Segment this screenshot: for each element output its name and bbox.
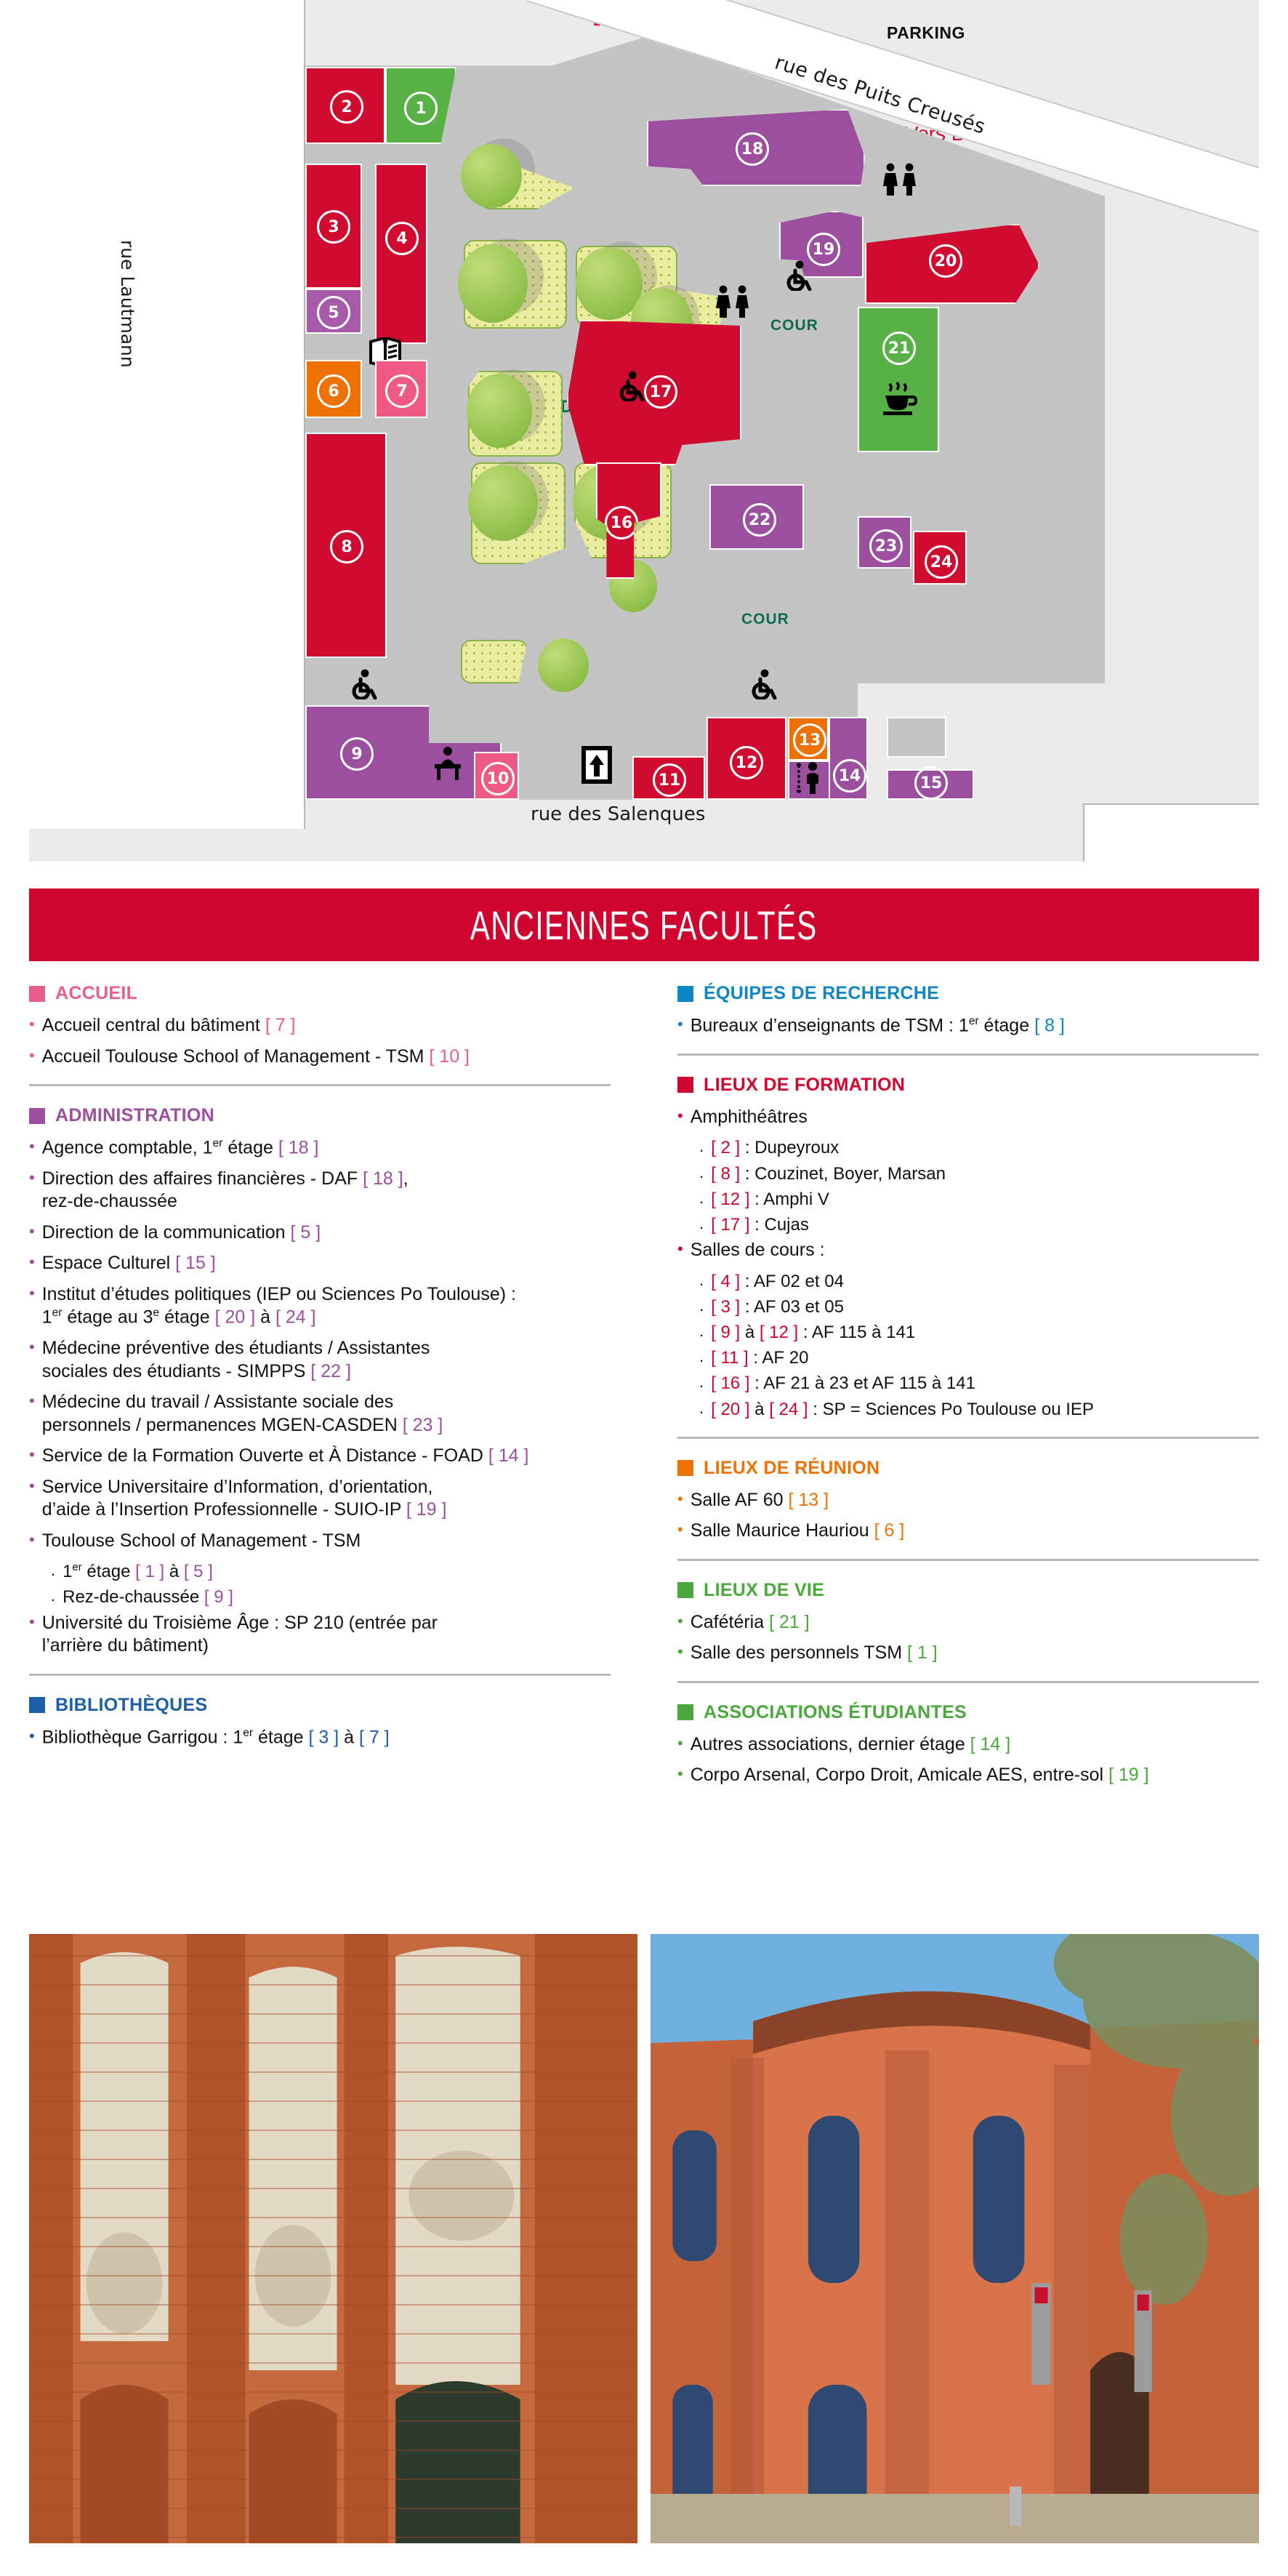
legend-subitem-text: [ 11 ] : AF 20 [711, 1347, 808, 1369]
tree-icon [467, 374, 532, 448]
map-marker-18[interactable]: 18 [736, 132, 769, 166]
bullet-icon: • [677, 1106, 683, 1127]
bullet-icon: • [29, 1283, 35, 1304]
legend-item-text: Service de la Formation Ouverte et À Dis… [42, 1445, 611, 1468]
legend-item-text: Amphithéâtres [691, 1106, 1259, 1129]
subbullet-icon: . [699, 1136, 704, 1157]
cour-label-1: COUR [770, 317, 818, 334]
map-marker-11[interactable]: 11 [653, 763, 686, 797]
legend-section-equipes-de-recherche: ÉQUIPES DE RECHERCHE•Bureaux d’enseignan… [677, 983, 1259, 1038]
bullet-icon: • [677, 1489, 683, 1510]
legend-subitem[interactable]: .[ 8 ] : Couzinet, Boyer, Marsan [699, 1163, 1259, 1185]
bullet-icon: • [677, 1764, 683, 1785]
building-block-23[interactable]: 23 [858, 516, 911, 569]
map-marker-9[interactable]: 9 [340, 737, 374, 771]
bullet-icon: • [29, 1612, 35, 1633]
legend-item-text: Médecine préventive des étudiants / Assi… [42, 1337, 611, 1383]
legend-subitem[interactable]: .Rez-de-chaussée [ 9 ] [51, 1586, 611, 1608]
section-color-square [677, 1704, 693, 1720]
bullet-icon: • [29, 1168, 35, 1189]
bullet-icon: • [29, 1046, 35, 1067]
section-divider [677, 1559, 1259, 1561]
legend-item[interactable]: •Espace Culturel [ 15 ] [29, 1252, 611, 1275]
section-header-lieux-de-formation: LIEUX DE FORMATION [677, 1075, 1259, 1096]
subbullet-icon: . [699, 1188, 704, 1209]
subbullet-icon: . [51, 1560, 55, 1581]
photo-strip [29, 1934, 1259, 2543]
legend-column-right: ÉQUIPES DE RECHERCHE•Bureaux d’enseignan… [677, 983, 1259, 1795]
bullet-icon: • [29, 1530, 35, 1551]
section-color-square [677, 1582, 693, 1598]
subbullet-icon: . [51, 1586, 55, 1607]
cour-label-2: COUR [741, 611, 789, 628]
building-block-6[interactable]: 6 [305, 360, 362, 418]
map-marker-3[interactable]: 3 [317, 210, 350, 244]
legend-section-lieux-de-vie: LIEUX DE VIE•Cafétéria [ 21 ]•Salle des … [677, 1580, 1259, 1665]
section-divider [29, 1084, 611, 1086]
legend-item[interactable]: •Institut d’études politiques (IEP ou Sc… [29, 1283, 611, 1329]
bullet-icon: • [29, 1337, 35, 1358]
legend-subitem[interactable]: .[ 2 ] : Dupeyroux [699, 1136, 1259, 1159]
section-title: LIEUX DE FORMATION [704, 1075, 905, 1096]
map-marker-5[interactable]: 5 [317, 296, 350, 329]
legend-item[interactable]: •Direction de la communication [ 5 ] [29, 1221, 611, 1245]
cafeteria-cup-icon [880, 381, 919, 416]
legend-subitem[interactable]: .[ 3 ] : AF 03 et 05 [699, 1296, 1259, 1318]
legend-item[interactable]: •Agence comptable, 1er étage [ 18 ] [29, 1136, 611, 1160]
legend-item[interactable]: •Salles de cours : [677, 1239, 1259, 1262]
legend-subitem[interactable]: .[ 20 ] à [ 24 ] : SP = Sciences Po Toul… [699, 1398, 1259, 1421]
legend-subitem[interactable]: .[ 9 ] à [ 12 ] : AF 115 à 141 [699, 1321, 1259, 1344]
section-color-square [677, 1460, 693, 1476]
map-marker-20[interactable]: 20 [929, 244, 962, 278]
tree-icon [538, 638, 589, 692]
building-block-21[interactable]: 21 [858, 307, 939, 452]
legend-section-accueil: ACCUEIL•Accueil central du bâtiment [ 7 … [29, 983, 611, 1068]
building-block-5[interactable]: 5 [305, 289, 362, 334]
legend-item[interactable]: •Corpo Arsenal, Corpo Droit, Amicale AES… [677, 1764, 1259, 1787]
page-title: ANCIENNES FACULTÉS [470, 902, 818, 949]
bullet-icon: • [677, 1520, 683, 1541]
map-marker-17[interactable]: 17 [644, 375, 677, 409]
legend-item-text: Institut d’études politiques (IEP ou Sci… [42, 1283, 611, 1329]
map-marker-7[interactable]: 7 [385, 374, 419, 408]
restrooms-icon-top [880, 163, 920, 196]
legend-item-text: Autres associations, dernier étage [ 14 … [691, 1733, 1259, 1757]
legend-item-text: Service Universitaire d’Information, d’o… [42, 1476, 611, 1522]
subbullet-icon: . [699, 1296, 704, 1317]
legend-item[interactable]: •Service Universitaire d’Information, d’… [29, 1476, 611, 1522]
legend-subitem-text: [ 3 ] : AF 03 et 05 [711, 1296, 844, 1318]
restrooms-icon-mid [712, 285, 753, 318]
legend-subitem[interactable]: .[ 17 ] : Cujas [699, 1213, 1259, 1236]
legend-item-text: Direction de la communication [ 5 ] [42, 1221, 611, 1245]
legend-item-text: Bureaux d’enseignants de TSM : 1er étage… [691, 1014, 1259, 1038]
subbullet-icon: . [699, 1163, 704, 1184]
bullet-icon: • [677, 1733, 683, 1754]
legend-item[interactable]: •Salle Maurice Hauriou [ 6 ] [677, 1520, 1259, 1543]
legend-section-lieux-de-formation: LIEUX DE FORMATION•Amphithéâtres.[ 2 ] :… [677, 1075, 1259, 1421]
bullet-icon: • [29, 1252, 35, 1273]
section-divider [677, 1437, 1259, 1439]
legend-item-text: Université du Troisième Âge : SP 210 (en… [42, 1612, 611, 1658]
legend-section-associations-etudiantes: ASSOCIATIONS ÉTUDIANTES•Autres associati… [677, 1702, 1259, 1787]
legend-subitem-text: Rez-de-chaussée [ 9 ] [63, 1586, 233, 1608]
subbullet-icon: . [699, 1321, 704, 1342]
campus-map-page: rue Lautmann rue des Salenques PARKING V… [0, 0, 1288, 2576]
legend-section-bibliotheques: BIBLIOTHÈQUES•Bibliothèque Garrigou : 1e… [29, 1695, 611, 1749]
subbullet-icon: . [699, 1270, 704, 1291]
building-block-15[interactable]: 15 [887, 769, 974, 800]
tree-icon [458, 244, 528, 323]
legend-item[interactable]: •Bibliothèque Garrigou : 1er étage [ 3 ]… [29, 1726, 611, 1749]
photo-rotonde [651, 1934, 1259, 2543]
legend-subitem-text: [ 9 ] à [ 12 ] : AF 115 à 141 [711, 1321, 915, 1344]
legend-item-text: Salle AF 60 [ 13 ] [691, 1489, 1259, 1512]
map-marker-10[interactable]: 10 [481, 762, 515, 795]
subbullet-icon: . [699, 1347, 704, 1368]
legend-item[interactable]: •Médecine du travail / Assistante social… [29, 1391, 611, 1437]
entrance-arrow-icon [581, 746, 612, 784]
legend-item-text: Corpo Arsenal, Corpo Droit, Amicale AES,… [691, 1764, 1259, 1787]
legend-item[interactable]: •Toulouse School of Management - TSM [29, 1530, 611, 1553]
building-block-3[interactable]: 3 [305, 164, 362, 289]
section-divider [677, 1054, 1259, 1056]
building-block-10[interactable]: 10 [474, 752, 519, 800]
bullet-icon: • [29, 1014, 35, 1035]
building-block-plain [887, 717, 946, 758]
legend-item[interactable]: •Accueil central du bâtiment [ 7 ] [29, 1014, 611, 1038]
legend-item[interactable]: •Accueil Toulouse School of Management -… [29, 1046, 611, 1069]
legend-subitem-text: [ 17 ] : Cujas [711, 1213, 809, 1236]
page-title-bar: ANCIENNES FACULTÉS [29, 888, 1259, 961]
legend-subitem-text: [ 8 ] : Couzinet, Boyer, Marsan [711, 1163, 946, 1185]
section-title: ASSOCIATIONS ÉTUDIANTES [704, 1702, 967, 1723]
legend-item-text: Cafétéria [ 21 ] [691, 1611, 1259, 1634]
map-marker-1[interactable]: 1 [404, 92, 438, 125]
legend-item[interactable]: •Salle AF 60 [ 13 ] [677, 1489, 1259, 1512]
map-marker-12[interactable]: 12 [730, 746, 763, 779]
legend-subitem[interactable]: .[ 4 ] : AF 02 et 04 [699, 1270, 1259, 1293]
section-color-square [677, 1077, 693, 1093]
campus-map[interactable]: rue Lautmann rue des Salenques PARKING V… [29, 0, 1259, 862]
map-marker-8[interactable]: 8 [330, 530, 363, 563]
bullet-icon: • [29, 1221, 35, 1243]
map-marker-4[interactable]: 4 [385, 222, 419, 255]
legend-item-text: Espace Culturel [ 15 ] [42, 1252, 611, 1275]
campus-ground: rue des Puits Creusés 2 1 3 4 5 [305, 29, 1105, 825]
map-marker-24[interactable]: 24 [925, 545, 958, 579]
map-marker-6[interactable]: 6 [317, 374, 350, 408]
section-header-equipes-de-recherche: ÉQUIPES DE RECHERCHE [677, 983, 1259, 1004]
map-marker-16[interactable]: 16 [605, 506, 638, 539]
subbullet-icon: . [699, 1398, 704, 1419]
legend-item-text: Médecine du travail / Assistante sociale… [42, 1391, 611, 1437]
legend-subitem-text: [ 16 ] : AF 21 à 23 et AF 115 à 141 [711, 1372, 975, 1395]
section-header-lieux-de-vie: LIEUX DE VIE [677, 1580, 1259, 1601]
section-title: LIEUX DE RÉUNION [704, 1458, 880, 1479]
building-block-4[interactable]: 4 [375, 164, 427, 344]
elevator-icon [794, 761, 823, 795]
map-white-block-left [29, 0, 305, 829]
legend-item[interactable]: •Amphithéâtres [677, 1106, 1259, 1129]
map-marker-23[interactable]: 23 [869, 529, 903, 563]
legend-item[interactable]: •Service de la Formation Ouverte et À Di… [29, 1445, 611, 1468]
legend-item-text: Salle Maurice Hauriou [ 6 ] [691, 1520, 1259, 1543]
building-block-13[interactable]: 13 [788, 717, 829, 761]
building-block-12[interactable]: 12 [707, 717, 786, 800]
map-marker-13[interactable]: 13 [793, 723, 826, 757]
building-block-2[interactable]: 2 [305, 67, 385, 144]
bullet-icon: • [677, 1014, 683, 1035]
section-title: LIEUX DE VIE [704, 1580, 824, 1601]
section-color-square [677, 986, 693, 1002]
legend-item-text: Salle des personnels TSM [ 1 ] [691, 1642, 1259, 1665]
legend-subitem[interactable]: .1er étage [ 1 ] à [ 5 ] [51, 1560, 611, 1583]
legend-item[interactable]: •Direction des affaires financières - DA… [29, 1168, 611, 1213]
section-title: ÉQUIPES DE RECHERCHE [704, 983, 939, 1004]
map-marker-14[interactable]: 14 [833, 759, 866, 793]
legend-column-left: ACCUEIL•Accueil central du bâtiment [ 7 … [29, 983, 611, 1757]
map-white-block-right [1083, 803, 1259, 862]
section-title: ADMINISTRATION [55, 1105, 214, 1126]
section-header-bibliotheques: BIBLIOTHÈQUES [29, 1695, 611, 1716]
legend-subitem-text: [ 2 ] : Dupeyroux [711, 1136, 839, 1159]
bullet-icon: • [677, 1239, 683, 1260]
legend-subitem[interactable]: .[ 16 ] : AF 21 à 23 et AF 115 à 141 [699, 1372, 1259, 1395]
legend-item-text: Direction des affaires financières - DAF… [42, 1168, 611, 1213]
photo-facade-relief [29, 1934, 637, 2543]
section-color-square [29, 1108, 45, 1124]
legend-item-text: Bibliothèque Garrigou : 1er étage [ 3 ] … [42, 1726, 611, 1749]
building-block-11[interactable]: 11 [632, 756, 705, 800]
legend-item[interactable]: •Autres associations, dernier étage [ 14… [677, 1733, 1259, 1757]
legend-subitem-text: [ 12 ] : Amphi V [711, 1188, 829, 1211]
section-divider [677, 1681, 1259, 1683]
legend-subitem[interactable]: .[ 12 ] : Amphi V [699, 1188, 1259, 1211]
bullet-icon: • [677, 1642, 683, 1663]
wheelchair-access-icon-bottom [750, 669, 779, 699]
wheelchair-access-icon-17 [618, 371, 647, 401]
tree-icon [461, 144, 522, 208]
legend-item-text: Toulouse School of Management - TSM [42, 1530, 611, 1553]
tree-icon [468, 465, 538, 541]
building-block-24[interactable]: 24 [913, 531, 967, 585]
section-header-administration: ADMINISTRATION [29, 1105, 611, 1126]
subbullet-icon: . [699, 1213, 704, 1235]
section-divider [29, 1674, 611, 1676]
section-title: ACCUEIL [55, 983, 137, 1004]
section-header-associations-etudiantes: ASSOCIATIONS ÉTUDIANTES [677, 1702, 1259, 1723]
legend-item[interactable]: •Cafétéria [ 21 ] [677, 1611, 1259, 1634]
map-marker-22[interactable]: 22 [743, 503, 776, 537]
section-color-square [29, 986, 45, 1002]
legend-subitem-text: 1er étage [ 1 ] à [ 5 ] [63, 1560, 213, 1583]
legend-section-administration: ADMINISTRATION•Agence comptable, 1er éta… [29, 1105, 611, 1658]
building-block-8[interactable]: 8 [305, 433, 387, 658]
building-block-22[interactable]: 22 [709, 484, 804, 550]
legend-subitem-text: [ 20 ] à [ 24 ] : SP = Sciences Po Toulo… [711, 1398, 1094, 1421]
section-header-accueil: ACCUEIL [29, 983, 611, 1004]
bullet-icon: • [29, 1445, 35, 1466]
bullet-icon: • [29, 1476, 35, 1497]
subbullet-icon: . [699, 1372, 704, 1393]
legend-subitem[interactable]: .[ 11 ] : AF 20 [699, 1347, 1259, 1369]
section-header-lieux-de-reunion: LIEUX DE RÉUNION [677, 1458, 1259, 1479]
legend-item[interactable]: •Bureaux d’enseignants de TSM : 1er étag… [677, 1014, 1259, 1038]
legend-section-lieux-de-reunion: LIEUX DE RÉUNION•Salle AF 60 [ 13 ]•Sall… [677, 1458, 1259, 1543]
map-marker-21[interactable]: 21 [882, 332, 916, 365]
section-color-square [29, 1697, 45, 1713]
legend-item-text: Accueil central du bâtiment [ 7 ] [42, 1014, 611, 1038]
bullet-icon: • [29, 1391, 35, 1412]
legend-subitem-text: [ 4 ] : AF 02 et 04 [711, 1270, 844, 1293]
map-marker-15[interactable]: 15 [914, 766, 948, 800]
wheelchair-access-icon-left [350, 669, 379, 699]
bullet-icon: • [677, 1611, 683, 1632]
legend-item-text: Agence comptable, 1er étage [ 18 ] [42, 1136, 611, 1160]
building-block-7[interactable]: 7 [375, 360, 427, 418]
wheelchair-access-icon-right [785, 260, 814, 291]
section-title: BIBLIOTHÈQUES [55, 1695, 207, 1716]
legend-item-text: Accueil Toulouse School of Management - … [42, 1046, 611, 1069]
bullet-icon: • [29, 1136, 35, 1157]
legend-item[interactable]: •Université du Troisième Âge : SP 210 (e… [29, 1612, 611, 1658]
street-label-rue-lautmann: rue Lautmann [117, 240, 138, 368]
building-block-14[interactable]: 14 [829, 717, 868, 800]
legend-item[interactable]: •Médecine préventive des étudiants / Ass… [29, 1337, 611, 1383]
reception-desk-icon [432, 746, 463, 781]
bullet-icon: • [29, 1726, 35, 1747]
legend-item[interactable]: •Salle des personnels TSM [ 1 ] [677, 1642, 1259, 1665]
map-marker-2[interactable]: 2 [330, 90, 363, 124]
legend-item-text: Salles de cours : [691, 1239, 1259, 1262]
